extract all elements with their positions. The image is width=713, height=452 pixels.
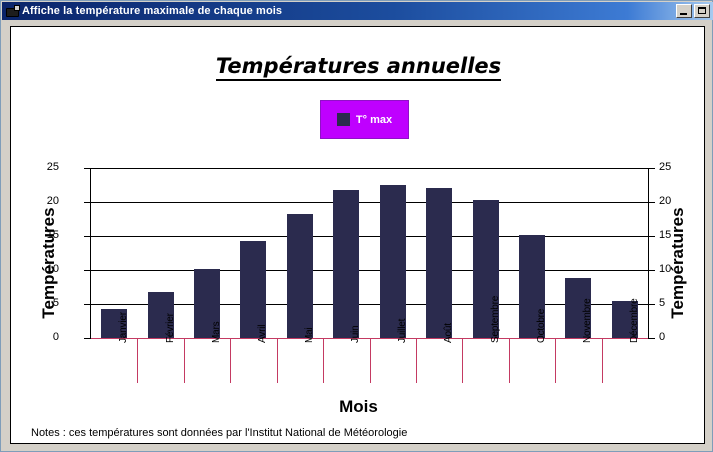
category-separator — [509, 339, 510, 383]
bar-slot — [137, 168, 183, 338]
y-axis-tick-right — [648, 270, 655, 271]
category-separator — [184, 339, 185, 383]
bar[interactable] — [240, 241, 266, 338]
application-window: Affiche la température maximale de chaqu… — [0, 0, 713, 452]
category-separator — [555, 339, 556, 383]
chart-canvas: Températures annuelles T° max 0055101015… — [10, 26, 705, 444]
bar-slot — [416, 168, 462, 338]
x-axis-tick-label: Juillet — [397, 319, 408, 343]
x-axis-tick-label: Décembre — [629, 298, 640, 343]
x-axis-tick-label: Novembre — [582, 298, 593, 343]
x-axis-tick-label: Août — [443, 323, 454, 343]
category-separator — [230, 339, 231, 383]
x-axis-tick-label: Février — [165, 313, 176, 343]
category-separator — [602, 339, 603, 383]
y-axis-tick-label-right: 25 — [659, 162, 671, 173]
minimize-button[interactable] — [676, 4, 692, 18]
category-separator — [323, 339, 324, 383]
x-axis-tick-label: Mai — [304, 327, 315, 343]
bar-slot — [555, 168, 601, 338]
category-separator — [277, 339, 278, 383]
category-separator — [462, 339, 463, 383]
bar-slot — [370, 168, 416, 338]
chart-title-text: Températures annuelles — [216, 54, 501, 81]
bar-slot — [230, 168, 276, 338]
bar[interactable] — [333, 190, 359, 338]
category-separator — [416, 339, 417, 383]
x-axis-tick-label: Avril — [257, 325, 268, 343]
x-axis-tick-label: Juin — [350, 325, 361, 343]
y-axis-tick-right — [648, 202, 655, 203]
y-axis-title-right: Températures — [668, 203, 688, 323]
x-axis-tick-label: Mars — [211, 322, 222, 343]
category-separator — [370, 339, 371, 383]
y-axis-tick-label-left: 0 — [53, 332, 59, 343]
y-axis-tick-left — [84, 236, 91, 237]
bar-slot — [602, 168, 648, 338]
legend-swatch-tmax — [337, 113, 350, 126]
application-icon — [5, 4, 19, 18]
window-title: Affiche la température maximale de chaqu… — [22, 5, 282, 17]
y-axis-tick-label-right: 5 — [659, 298, 665, 309]
y-axis-tick-right — [648, 338, 655, 339]
bar-slot — [323, 168, 369, 338]
bar-slot — [509, 168, 555, 338]
restore-button[interactable] — [694, 4, 710, 18]
y-axis-tick-left — [84, 304, 91, 305]
x-axis-tick-label: Octobre — [536, 309, 547, 343]
legend-label-tmax: T° max — [356, 114, 392, 126]
y-axis-tick-label-right: 0 — [659, 332, 665, 343]
bar-slot — [91, 168, 137, 338]
x-axis-tick-label: Janvier — [118, 312, 129, 343]
x-axis-tick-label: Septembre — [490, 296, 501, 343]
bar-slot — [184, 168, 230, 338]
y-axis-tick-right — [648, 236, 655, 237]
y-axis-tick-left — [84, 168, 91, 169]
y-axis-tick-left — [84, 270, 91, 271]
y-axis-tick-left — [84, 202, 91, 203]
bar[interactable] — [380, 185, 406, 338]
category-separator — [137, 339, 138, 383]
y-axis-title-left: Températures — [39, 203, 59, 323]
y-axis-tick-right — [648, 168, 655, 169]
chart-footnote: Notes : ces températures sont données pa… — [31, 427, 407, 439]
bar[interactable] — [287, 214, 313, 338]
window-controls — [676, 4, 710, 18]
chart-title: Températures annuelles — [11, 54, 705, 78]
bar-slot — [277, 168, 323, 338]
minimize-icon — [680, 13, 687, 15]
y-axis-tick-left — [84, 338, 91, 339]
y-axis-tick-right — [648, 304, 655, 305]
chart-legend: T° max — [320, 100, 409, 139]
bar[interactable] — [426, 188, 452, 338]
bar-slot — [462, 168, 508, 338]
restore-icon — [698, 7, 706, 14]
x-axis-title: Mois — [11, 397, 705, 417]
title-bar: Affiche la température maximale de chaqu… — [2, 2, 713, 20]
y-axis-tick-label-left: 25 — [47, 162, 59, 173]
